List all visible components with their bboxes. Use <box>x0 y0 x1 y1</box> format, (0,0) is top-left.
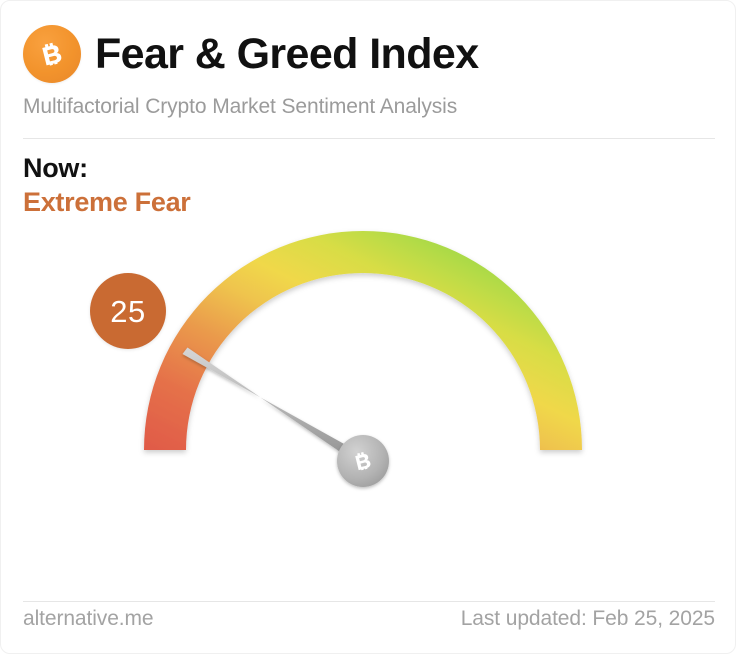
gauge-needle-hub <box>337 435 389 487</box>
fear-greed-index-card: Fear & Greed Index Multifactorial Crypto… <box>0 0 736 654</box>
bitcoin-icon <box>23 25 81 83</box>
status-now-label: Now: <box>23 153 191 185</box>
gauge-value-badge: 25 <box>90 273 166 349</box>
title-row: Fear & Greed Index <box>23 23 715 85</box>
header: Fear & Greed Index Multifactorial Crypto… <box>23 23 715 118</box>
gauge-value-text: 25 <box>110 296 145 327</box>
gauge-arc <box>144 231 582 450</box>
footer-source-label[interactable]: alternative.me <box>23 607 154 631</box>
footer-divider <box>23 601 715 602</box>
status-block: Now: Extreme Fear <box>23 153 191 219</box>
header-divider <box>23 138 715 139</box>
footer: alternative.me Last updated: Feb 25, 202… <box>23 607 715 631</box>
gauge <box>1 211 736 571</box>
page-subtitle: Multifactorial Crypto Market Sentiment A… <box>23 95 715 118</box>
footer-updated-label: Last updated: Feb 25, 2025 <box>461 607 715 631</box>
gauge-needle <box>183 348 364 468</box>
page-title: Fear & Greed Index <box>95 33 479 76</box>
